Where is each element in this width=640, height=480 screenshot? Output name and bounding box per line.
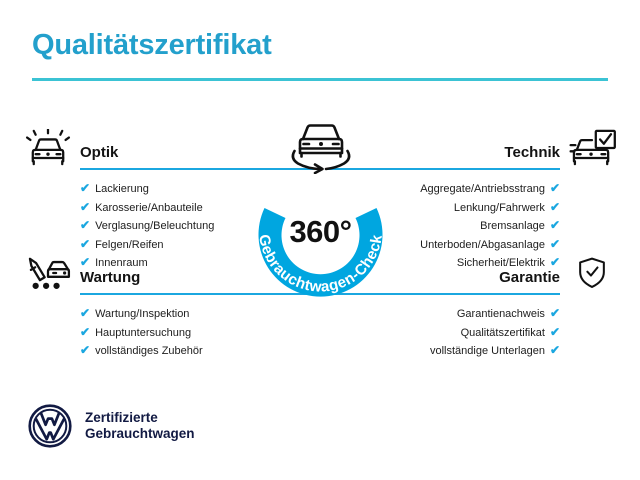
page-title: Qualitätszertifikat xyxy=(32,30,608,62)
check-icon: ✔ xyxy=(80,343,90,359)
check-icon: ✔ xyxy=(80,200,90,216)
check-icon: ✔ xyxy=(550,343,560,359)
list-item-label: Verglasung/Beleuchtung xyxy=(95,220,214,232)
360-degrees-label: 360° xyxy=(243,214,398,250)
list-item: vollständige Unterlagen✔ xyxy=(348,342,618,361)
list-item: ✔vollständiges Zubehör xyxy=(22,342,292,361)
section-garantie-title: Garantie xyxy=(499,270,560,285)
list-item-label: Hauptuntersuchung xyxy=(95,327,191,339)
list-item-label: Lenkung/Fahrwerk xyxy=(454,202,545,214)
list-item-label: Garantienachweis xyxy=(457,308,545,320)
check-icon: ✔ xyxy=(80,181,90,197)
list-item-label: Karosserie/Anbauteile xyxy=(95,202,203,214)
section-wartung-title: Wartung xyxy=(80,270,140,285)
section-garantie-list: Garantienachweis✔ Qualitätszertifikat✔ v… xyxy=(348,305,618,361)
shield-check-icon xyxy=(566,253,618,293)
check-icon: ✔ xyxy=(550,200,560,216)
360-check-badge: Gebrauchtwagen-Check 360° xyxy=(243,118,398,303)
vw-lockup: Zertifizierte Gebrauchtwagen xyxy=(28,404,195,448)
check-icon: ✔ xyxy=(550,237,560,253)
list-item: ✔Hauptuntersuchung xyxy=(22,324,292,343)
list-item-label: Wartung/Inspektion xyxy=(95,308,189,320)
list-item: Garantienachweis✔ xyxy=(348,305,618,324)
section-technik-title: Technik xyxy=(504,145,560,160)
list-item-label: Lackierung xyxy=(95,183,149,195)
certificate-page: Qualitätszertifikat xyxy=(0,0,640,480)
check-icon: ✔ xyxy=(80,306,90,322)
check-icon: ✔ xyxy=(80,237,90,253)
list-item-label: vollständige Unterlagen xyxy=(430,345,545,357)
vw-logo xyxy=(28,404,72,448)
section-optik-title: Optik xyxy=(80,145,118,160)
check-icon: ✔ xyxy=(550,306,560,322)
list-item-label: Qualitätszertifikat xyxy=(461,327,545,339)
check-icon: ✔ xyxy=(550,325,560,341)
list-item-label: Bremsanlage xyxy=(480,220,545,232)
check-icon: ✔ xyxy=(550,181,560,197)
list-item-label: Unterboden/Abgasanlage xyxy=(420,239,545,251)
vw-lockup-text: Zertifizierte Gebrauchtwagen xyxy=(85,410,195,443)
section-wartung-list: ✔Wartung/Inspektion ✔Hauptuntersuchung ✔… xyxy=(22,305,292,361)
check-icon: ✔ xyxy=(80,325,90,341)
check-icon: ✔ xyxy=(80,218,90,234)
list-item: ✔Wartung/Inspektion xyxy=(22,305,292,324)
car-shine-icon xyxy=(22,128,74,168)
list-item-label: Aggregate/Antriebsstrang xyxy=(420,183,545,195)
check-icon: ✔ xyxy=(550,218,560,234)
car-checkbox-icon xyxy=(566,128,618,168)
list-item-label: vollständiges Zubehör xyxy=(95,345,203,357)
title-divider xyxy=(32,78,608,81)
wrench-car-icon xyxy=(22,253,74,293)
list-item: Qualitätszertifikat✔ xyxy=(348,324,618,343)
list-item-label: Felgen/Reifen xyxy=(95,239,164,251)
header: Qualitätszertifikat xyxy=(32,30,608,81)
